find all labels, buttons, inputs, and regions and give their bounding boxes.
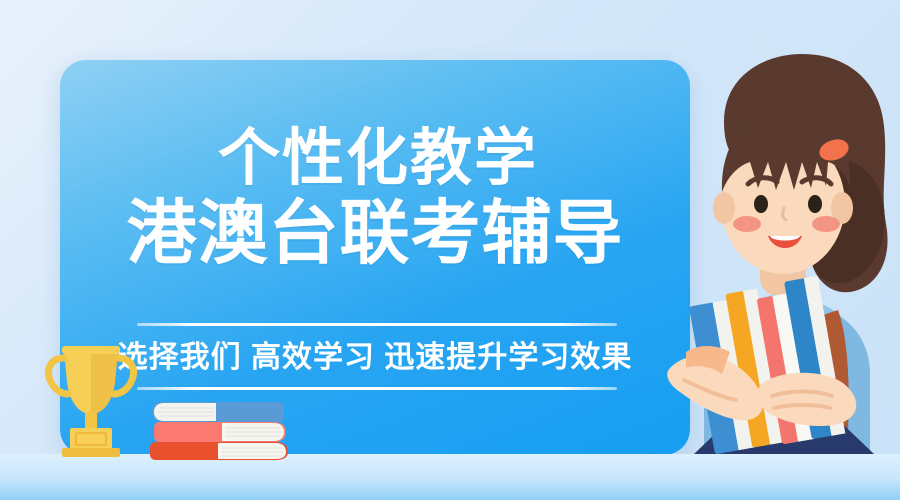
- book-bottom-pages: [218, 443, 286, 459]
- trophy-rim: [62, 346, 120, 354]
- trophy-cup-shade: [91, 350, 118, 414]
- blush-right: [812, 216, 840, 232]
- trophy-base-plate: [62, 448, 120, 457]
- eye-left: [754, 195, 768, 213]
- student-girl-illustration: [612, 52, 900, 458]
- floor-ground: [0, 454, 900, 500]
- eye-right: [808, 195, 822, 213]
- divider-line-top: [137, 323, 617, 326]
- ear-left: [713, 192, 735, 224]
- divider-line-bottom: [137, 387, 617, 390]
- trophy-handle-left: [49, 358, 68, 394]
- blue-card-panel: [60, 60, 690, 455]
- subtitle-text: 选择我们 高效学习 迅速提升学习效果: [60, 332, 690, 376]
- trophy-handle-right: [114, 358, 133, 394]
- books-stack-illustration: [146, 398, 294, 462]
- promo-banner: 个性化教学 港澳台联考辅导 选择我们 高效学习 迅速提升学习效果: [0, 0, 900, 500]
- trophy-stem: [85, 412, 97, 430]
- trophy-illustration: [42, 338, 140, 460]
- blush-left: [733, 216, 761, 232]
